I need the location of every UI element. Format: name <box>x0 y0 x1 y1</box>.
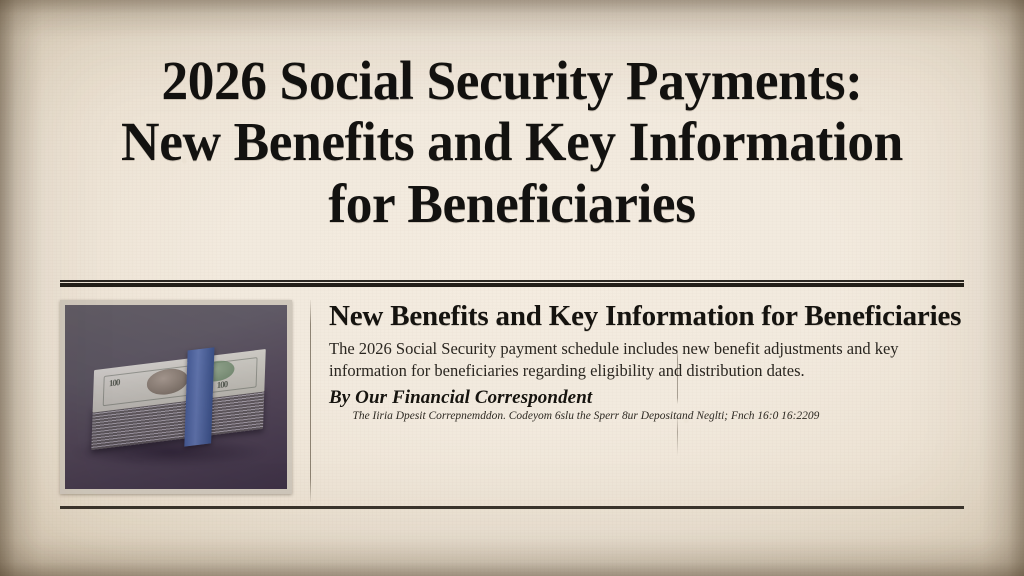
subheading: New Benefits and Key Information for Ben… <box>329 300 964 332</box>
photo-frame: 100 100 <box>60 300 292 494</box>
rule-thick <box>60 283 964 287</box>
top-double-rule <box>60 280 964 287</box>
byline: By Our Financial Correspondent <box>329 388 964 409</box>
text-column: New Benefits and Key Information for Ben… <box>327 300 964 423</box>
bottom-rule <box>60 506 964 509</box>
caption-garbled-text: The Iiria Dpesit Correpnemddon. Codeyom … <box>353 410 963 423</box>
rule-thin <box>60 280 964 282</box>
content-row: 100 100 New Benefits and Key Information… <box>60 300 964 502</box>
photo-color-tint <box>65 305 287 489</box>
column-divider-rule <box>310 300 311 502</box>
money-stack-photo: 100 100 <box>65 305 287 489</box>
deck-paragraph: The 2026 Social Security payment schedul… <box>329 338 964 381</box>
headline-line-1: 2026 Social Security Payments: <box>62 50 962 111</box>
headline: 2026 Social Security Payments: New Benef… <box>62 50 962 234</box>
headline-line-3: for Beneficiaries <box>62 173 962 234</box>
article-graphic: 2026 Social Security Payments: New Benef… <box>0 0 1024 576</box>
headline-line-2: New Benefits and Key Information <box>62 111 962 172</box>
